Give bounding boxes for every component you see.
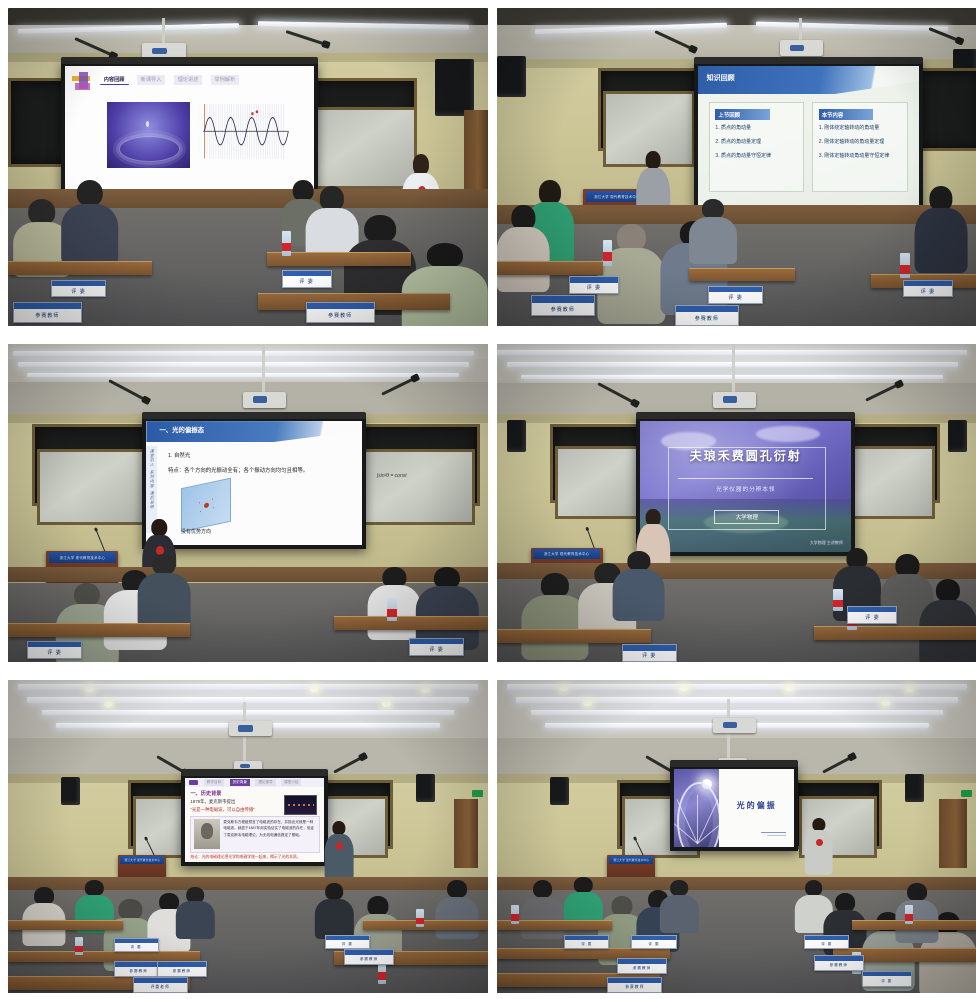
name-placard: 评 委: [282, 270, 332, 288]
projection-screen: 知识回顾 上节回顾 1. 质点的角动量 2. 质点的角动量定理 3. 质点的角动…: [694, 62, 923, 210]
name-placard: 参赛教师: [13, 302, 82, 323]
lecture-room: 夫琅禾费圆孔衍射 光学仪器的分辨本领 大学物理 大学物理 主讲教师 浙江大学 现…: [497, 344, 976, 662]
projector-icon: [243, 392, 286, 408]
projection-screen: 内容回顾 新课导入 理论讲述 举例解析: [61, 62, 319, 197]
photo-bottom-left[interactable]: 教学目标 历史背景 理论推导 课堂小结 一、历史背景 1879年，麦克斯韦提出 …: [8, 680, 488, 993]
water-bottle: [378, 962, 387, 984]
projector-icon: [780, 40, 823, 56]
audience-member: [598, 224, 665, 319]
door: [454, 799, 478, 868]
audience-member: [612, 551, 665, 618]
slide-content: 内容回顾 新课导入 理论讲述 举例解析: [65, 66, 315, 193]
photo-grid: 内容回顾 新课导入 理论讲述 举例解析: [0, 0, 976, 999]
lecture-room: 内容回顾 新课导入 理论讲述 举例解析: [8, 8, 488, 326]
slide-title: 光的偏振: [719, 800, 793, 811]
projector-icon: [713, 392, 756, 408]
speaker-icon: [948, 420, 967, 452]
list-item: 2. 刚体定轴转动的角动量定理: [819, 138, 901, 145]
slide-tab-2: 理论推导: [255, 779, 275, 786]
column-heading: 本节内容: [819, 109, 874, 120]
list-item: 1. 质点的角动量: [715, 124, 797, 131]
audience-member: [315, 883, 353, 936]
projector-pole: [162, 18, 165, 47]
name-placard: 参赛教师: [814, 955, 864, 971]
slide-line-1: 1. 自然光: [168, 451, 190, 459]
name-placard: 参赛教师: [617, 958, 667, 974]
name-placard: 评 委: [569, 276, 619, 294]
name-placard: 评 委: [409, 638, 464, 656]
slide-logo: [189, 780, 198, 786]
name-placard: 评 委: [51, 280, 106, 298]
audience-member: [61, 180, 119, 263]
slide-column-left: 上节回顾 1. 质点的角动量 2. 质点的角动量定理 3. 质点的角动量守恒定律: [709, 102, 804, 192]
name-placard: 评委老师: [133, 977, 188, 993]
water-bottle: [511, 905, 519, 924]
projection-screen: 光的偏振: [670, 765, 798, 851]
audience-member: [915, 186, 968, 269]
name-placard: 评 委: [847, 606, 897, 624]
speaker-icon: [905, 774, 924, 802]
audience-member: [497, 205, 550, 288]
name-placard: 评 委: [708, 286, 763, 304]
slide-tab-2: 理论讲述: [174, 75, 203, 85]
side-tab: 课后总结: [149, 491, 155, 509]
speaker-icon: [497, 56, 526, 97]
water-bottle: [833, 589, 843, 611]
name-placard: 参赛教师: [531, 295, 595, 316]
slide-tab-0: 教学目标: [204, 779, 224, 786]
audience-member: [402, 243, 488, 326]
name-placard: 评 委: [862, 971, 912, 987]
slide-subtitle: 光学仪器的分辨本领: [640, 485, 851, 493]
water-bottle: [387, 598, 397, 620]
slide-body: 麦克斯韦方程组预言了电磁波的存在，并指出光就是一种电磁波。赫兹于1887年用实验…: [223, 819, 315, 838]
maxwell-portrait: [194, 819, 220, 849]
projector-icon: [713, 718, 756, 734]
slide-line-2: 特点：各个方向的光振动全有；各个振动方向均匀且相等。: [168, 466, 308, 474]
name-placard: 评 委: [114, 938, 159, 953]
whiteboard-left: [555, 446, 647, 519]
ferris-wheel-image: [674, 769, 720, 847]
name-placard: 评 委: [631, 935, 676, 950]
audience-member: [919, 579, 976, 662]
audience-member: [660, 880, 698, 930]
speaker-icon: [507, 420, 526, 452]
polarization-figure: [181, 478, 231, 533]
speaker-icon: [435, 59, 473, 116]
audience-member: [138, 554, 191, 624]
slide-line-1: 1879年，麦克斯韦提出: [190, 799, 235, 805]
presenter: [325, 821, 354, 880]
photo-middle-left[interactable]: ∫sin²θ = const 一、光的偏振态 课堂引入 系列内容 课后总结 1.…: [8, 344, 488, 662]
podium-plate: 浙江大学 现代教育技术中心: [120, 856, 164, 863]
lecture-room: 知识回顾 上节回顾 1. 质点的角动量 2. 质点的角动量定理 3. 质点的角动…: [497, 8, 976, 326]
whiteboard-right: [306, 107, 418, 189]
audience-member: [416, 567, 478, 647]
water-ripple-image: [107, 102, 189, 168]
photo-top-left[interactable]: 内容回顾 新课导入 理论讲述 举例解析: [8, 8, 488, 326]
name-placard: 参赛教师: [344, 949, 394, 965]
whiteboard-right: ∫sin²θ = const: [358, 449, 474, 525]
lecture-room: ∫sin²θ = const 一、光的偏振态 课堂引入 系列内容 课后总结 1.…: [8, 344, 488, 662]
list-item: 2. 质点的角动量定理: [715, 138, 797, 145]
slide-title: 一、历史背景: [190, 790, 221, 797]
name-placard: 评 委: [903, 280, 953, 298]
water-bottle: [282, 231, 292, 256]
speaker-icon: [416, 774, 435, 802]
audience-member: [689, 199, 737, 263]
name-placard: 参赛教师: [306, 302, 375, 323]
name-placard: 评 委: [804, 935, 849, 950]
slide-line-2: “光是一种电磁波，可以自由传播”: [190, 807, 254, 813]
wave-plot: [200, 102, 290, 161]
podium-plate: 浙江大学 现代教育技术中心: [49, 552, 115, 563]
slide-tab-0: 内容回顾: [100, 75, 129, 85]
name-placard: 评 委: [622, 644, 677, 662]
audience-member: [895, 883, 938, 939]
slide-tab-3: 举例解析: [211, 75, 240, 85]
name-placard: 评 委: [325, 935, 370, 950]
audience-member: [176, 887, 214, 937]
slide-title: 知识回顾: [707, 73, 735, 83]
slide-credit: 大学物理 主讲教师: [810, 540, 843, 546]
audience-member: [22, 887, 65, 943]
slide-content: 知识回顾 上节回顾 1. 质点的角动量 2. 质点的角动量定理 3. 质点的角动…: [698, 66, 919, 206]
side-tab: 系列内容: [149, 470, 155, 488]
water-bottle: [900, 253, 910, 278]
slide-tabs: 教学目标 历史背景 理论推导 课堂小结: [185, 778, 324, 787]
whiteboard-left: [37, 449, 149, 525]
water-bottle: [905, 905, 913, 924]
water-bottle: [416, 909, 424, 928]
ceiling: [8, 8, 488, 53]
slide-tabs: 内容回顾 新课导入 理论讲述 举例解析: [100, 75, 305, 85]
projector-icon: [229, 721, 272, 737]
slide-tab-1: 历史背景: [230, 779, 250, 786]
slide-column-right: 本节内容 1. 刚体绕定轴转动的角动量 2. 刚体定轴转动的角动量定理 3. 刚…: [812, 102, 907, 192]
water-bottle: [75, 937, 83, 956]
slide-content: 光的偏振: [674, 769, 794, 847]
figure-caption: 没有优势方向: [181, 528, 211, 535]
column-heading: 上节回顾: [715, 109, 770, 120]
exit-sign-icon: [472, 790, 483, 797]
slide-content: 教学目标 历史背景 理论推导 课堂小结 一、历史背景 1879年，麦克斯韦提出 …: [185, 778, 324, 863]
name-placard: 评 委: [27, 641, 82, 659]
slide-chip: 大学物理: [714, 510, 779, 524]
lecture-room: 教学目标 历史背景 理论推导 课堂小结 一、历史背景 1879年，麦克斯韦提出 …: [8, 680, 488, 993]
photo-middle-right[interactable]: 夫琅禾费圆孔衍射 光学仪器的分辨本领 大学物理 大学物理 主讲教师 浙江大学 现…: [497, 344, 976, 662]
photo-bottom-right[interactable]: 光的偏振 浙江大学 现代教育技术中心: [497, 680, 976, 993]
slide-inset-image: [284, 795, 317, 816]
name-placard: 参赛教师: [675, 305, 739, 326]
slide-logo: [72, 72, 97, 92]
list-item: 3. 质点的角动量守恒定律: [715, 152, 797, 159]
name-placard: 参赛教师: [157, 961, 207, 977]
exit-sign-icon: [961, 790, 972, 797]
projection-screen: 教学目标 历史背景 理论推导 课堂小结 一、历史背景 1879年，麦克斯韦提出 …: [181, 774, 328, 867]
side-tab: 课堂引入: [149, 449, 155, 467]
list-item: 3. 刚体定轴转动角动量守恒定律: [819, 152, 901, 159]
slide-title: 夫琅禾费圆孔衍射: [640, 447, 851, 464]
slide-tab-1: 新课导入: [137, 75, 166, 85]
slide-footer: 结论：光的电磁理论把光学和电磁学统一起来，揭示了光的本质。: [190, 855, 300, 860]
slide-title: 一、光的偏振态: [159, 425, 204, 434]
presenter: [804, 818, 833, 874]
lecture-room: 光的偏振 浙江大学 现代教育技术中心: [497, 680, 976, 993]
podium-plate: 浙江大学 现代教育技术中心: [609, 856, 653, 863]
water-bottle: [603, 240, 613, 265]
name-placard: 参赛教师: [607, 977, 662, 993]
podium-plate: 浙江大学 现代教育技术中心: [533, 549, 599, 559]
slide-content: 一、光的偏振态 课堂引入 系列内容 课后总结 1. 自然光 特点：各个方向的光振…: [146, 421, 362, 545]
speaker-icon: [550, 777, 569, 805]
photo-top-right[interactable]: 知识回顾 上节回顾 1. 质点的角动量 2. 质点的角动量定理 3. 质点的角动…: [497, 8, 976, 326]
speaker-icon: [61, 777, 80, 805]
list-item: 1. 刚体绕定轴转动的角动量: [819, 124, 901, 131]
projection-screen: 一、光的偏振态 课堂引入 系列内容 课后总结 1. 自然光 特点：各个方向的光振…: [142, 417, 366, 549]
door: [939, 799, 968, 868]
slide-tab-3: 课堂小结: [281, 779, 301, 786]
slide-content: 夫琅禾费圆孔衍射 光学仪器的分辨本领 大学物理 大学物理 主讲教师: [640, 421, 851, 551]
name-placard: 评 委: [564, 935, 609, 950]
